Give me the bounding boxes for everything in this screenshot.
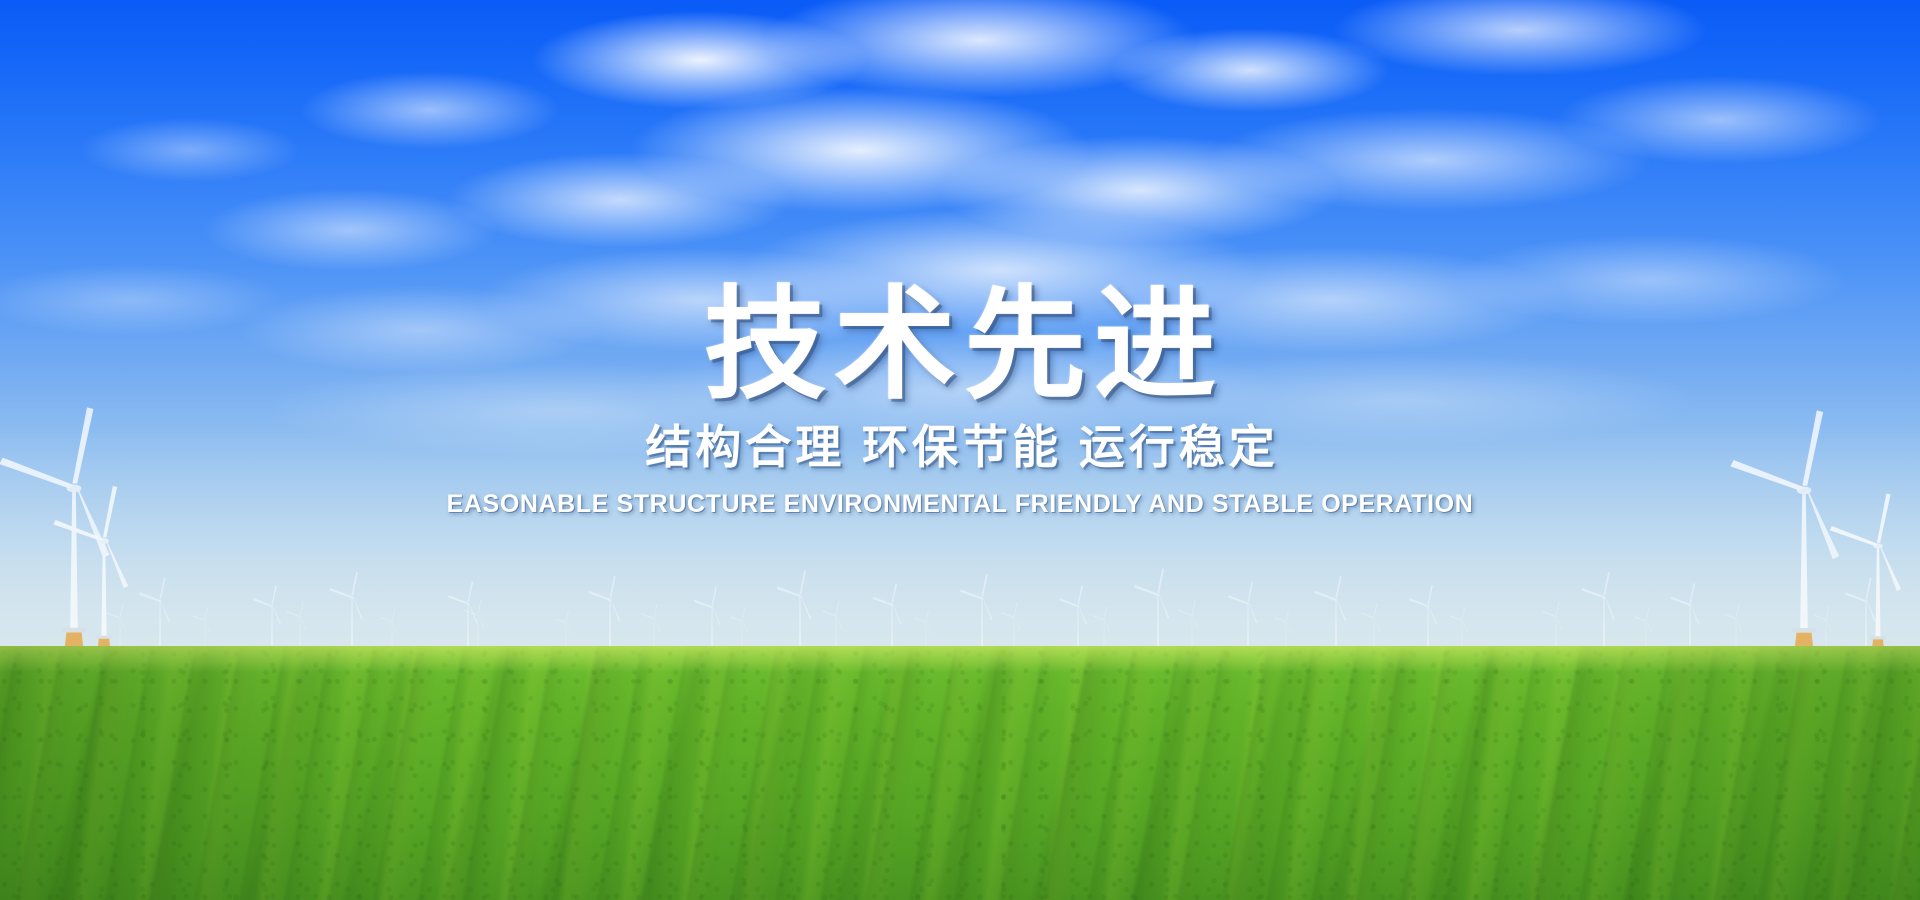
wind-turbine-icon-row-near — [0, 407, 1901, 652]
wind-turbine-icon-row-far — [107, 600, 1832, 648]
grass-field-icon — [0, 646, 1920, 900]
hero-banner: 技术先进 结构合理 环保节能 运行稳定 EASONABLE STRUCTURE … — [0, 0, 1920, 900]
wind-turbine-icon-group — [0, 0, 1920, 660]
wind-turbine-field — [0, 0, 1920, 660]
wind-turbine-icon-row-mid — [139, 568, 1876, 650]
